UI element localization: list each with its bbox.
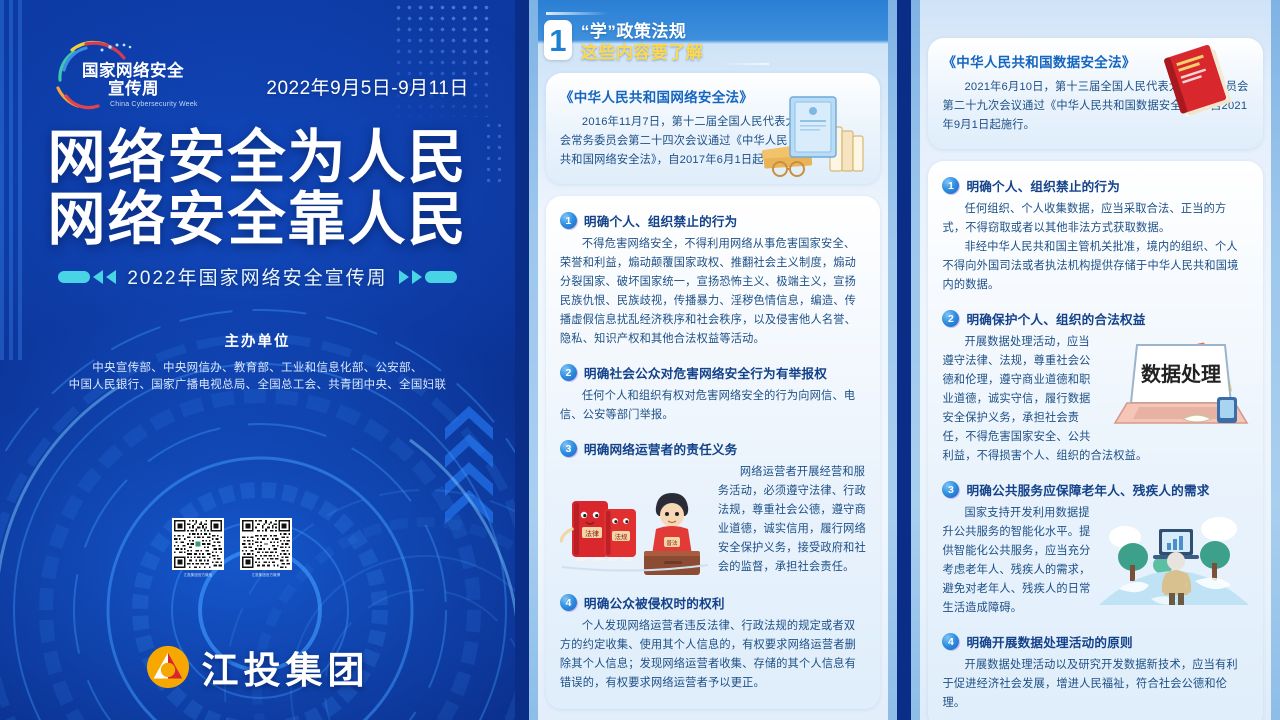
company-brand-name: 江投集团: [201, 640, 369, 694]
host-title: 主办单位: [0, 330, 515, 351]
qr-code-item[interactable]: 江投集团官方微博: [240, 518, 292, 577]
data-security-law-sheet: 《中华人民共和国数据安全法》 2021年6月10日，第十三届全国人民代表大会常务…: [911, 0, 1280, 720]
red-law-book-icon: [1157, 44, 1249, 124]
logo-line2: 宣传周: [108, 78, 159, 98]
left-arrow-decoration: [58, 270, 116, 284]
law-item: 4 明确开展数据处理活动的原则 开展数据处理活动以及研究开发数据新技术，应当有利…: [942, 632, 1249, 713]
qr-code-wechat[interactable]: [172, 518, 224, 570]
logo-english: China Cybersecurity Week: [110, 101, 198, 108]
headline-line-2: 网络安全靠人民: [0, 188, 515, 250]
jiangtou-group-logo-icon: [145, 644, 191, 690]
sheet-right-edge: [1271, 0, 1280, 720]
poster-headline: 网络安全为人民 网络安全靠人民: [0, 126, 515, 250]
section-title-line-2: 这些内容要了解: [581, 42, 704, 63]
law-item: 2 明确社会公众对危害网络安全行为有举报权 任何个人和组织有权对危害网络安全的行…: [560, 363, 867, 425]
poster-subtitle-text: 2022年国家网络安全宣传周: [127, 263, 387, 290]
item-title: 明确网络运营者的责任义务: [584, 439, 738, 458]
law-item: 4 明确公众被侵权时的权利 个人发现网络运营者违反法律、行政法规的规定或者双方的…: [560, 593, 867, 693]
item-title: 明确社会公众对危害网络安全行为有举报权: [584, 363, 827, 382]
item-title: 明确开展数据处理活动的原则: [966, 632, 1132, 651]
item-paragraph: 非经中华人民共和国主管机关批准，境内的组织、个人不得向外国司法或者执法机构提供存…: [942, 238, 1249, 295]
item-number-badge: 2: [942, 310, 959, 327]
books-and-glasses-icon: [760, 89, 872, 181]
cybersecurity-week-poster: 国家网络安全 宣传周 China Cybersecurity Week 2022…: [0, 0, 515, 720]
item-number-badge: 1: [942, 177, 959, 194]
item-paragraph: 任何组织、个人收集数据，应当采取合法、正当的方式，不得窃取或者以其他非法方式获取…: [942, 200, 1249, 238]
section-header: 1 “学”政策法规 这些内容要了解: [538, 0, 889, 71]
section-number-badge: 1: [544, 20, 572, 60]
svg-text:法规: 法规: [615, 532, 628, 541]
item-number-badge: 1: [560, 212, 577, 229]
law-item: 1 明确个人、组织禁止的行为 任何组织、个人收集数据，应当采取合法、正当的方式，…: [942, 176, 1249, 295]
sheet-right-edge: [888, 0, 897, 720]
law-books-mascot-icon: 法律 法规: [560, 467, 710, 579]
item-title: 明确公共服务应保障老年人、残疾人的需求: [966, 480, 1209, 499]
china-cybersecurity-week-logo: 国家网络安全 宣传周 China Cybersecurity Week: [52, 36, 202, 112]
item-title: 明确保护个人、组织的合法权益: [966, 309, 1145, 328]
section-title-line-1: “学”政策法规: [581, 21, 704, 42]
host-line-1: 中央宣传部、中央网信办、教育部、工业和信息化部、公安部、: [0, 360, 515, 377]
item-paragraph: 任何个人和组织有权对危害网络安全的行为向网信、电信、公安等部门举报。: [560, 387, 867, 425]
law-item: 2 明确保护个人、组织的合法权益: [942, 309, 1249, 466]
item-title: 明确个人、组织禁止的行为: [584, 211, 738, 230]
qr-caption-wechat: 江投集团官方微信: [172, 572, 224, 577]
law-items-card: 1 明确个人、组织禁止的行为 不得危害网络安全，不得利用网络从事危害国家安全、荣…: [546, 196, 881, 709]
poster-subtitle-banner: 2022年国家网络安全宣传周: [0, 263, 515, 290]
logo-line1: 国家网络安全: [82, 60, 184, 80]
cybersecurity-law-sheet: 1 “学”政策法规 这些内容要了解: [529, 0, 898, 720]
law-item: 3 明确网络运营者的责任义务 法律: [560, 439, 867, 579]
qr-code-item[interactable]: 江投集团官方微信: [172, 518, 224, 577]
host-line-2: 中国人民银行、国家广播电视总局、全国总工会、共青团中央、全国妇联: [0, 377, 515, 394]
laptop-data-processing-icon: 数据处理: [1109, 335, 1249, 447]
company-brand-lockup: 江投集团: [0, 640, 515, 694]
item-paragraph: 个人发现网络运营者违反法律、行政法规的规定或者双方的约定收集、使用其个人信息的，…: [560, 617, 867, 693]
qr-caption-weibo: 江投集团官方微博: [240, 572, 292, 577]
laptop-screen-label: 数据处理: [1141, 362, 1221, 386]
item-number-badge: 4: [560, 594, 577, 611]
poster-date-range: 2022年9月5日-9月11日: [266, 73, 469, 100]
law-item: 3 明确公共服务应保障老年人、残疾人的需求: [942, 480, 1249, 618]
panel-gap: [897, 0, 911, 720]
item-number-badge: 4: [942, 633, 959, 650]
headline-line-1: 网络安全为人民: [0, 126, 515, 188]
elderly-person-globe-icon: [1099, 506, 1249, 606]
qr-code-weibo[interactable]: [240, 518, 292, 570]
item-paragraph: 不得危害网络安全，不得利用网络从事危害国家安全、荣誉和利益，煽动颠覆国家政权、推…: [560, 235, 867, 349]
item-number-badge: 3: [560, 440, 577, 457]
law-items-card: 1 明确个人、组织禁止的行为 任何组织、个人收集数据，应当采取合法、正当的方式，…: [928, 161, 1263, 720]
law-intro-card: 《中华人民共和国网络安全法》 2016年11月7日，第十二届全国人民代表大会常务…: [546, 73, 881, 184]
sheet-left-edge: [529, 0, 538, 720]
law-item: 1 明确个人、组织禁止的行为 不得危害网络安全，不得利用网络从事危害国家安全、荣…: [560, 211, 867, 349]
poster-host-block: 主办单位 中央宣传部、中央网信办、教育部、工业和信息化部、公安部、 中国人民银行…: [0, 330, 515, 394]
item-number-badge: 2: [560, 364, 577, 381]
panel-gap: [515, 0, 529, 720]
svg-text:普法: 普法: [666, 539, 678, 547]
item-number-badge: 3: [942, 481, 959, 498]
law-intro-card: 《中华人民共和国数据安全法》 2021年6月10日，第十三届全国人民代表大会常务…: [928, 38, 1263, 149]
item-title: 明确个人、组织禁止的行为: [966, 176, 1120, 195]
item-title: 明确公众被侵权时的权利: [584, 593, 725, 612]
poster-collage: 国家网络安全 宣传周 China Cybersecurity Week 2022…: [0, 0, 1280, 720]
sheet-left-edge: [911, 0, 920, 720]
item-paragraph: 开展数据处理活动以及研究开发数据新技术，应当有利于促进经济社会发展，增进人民福祉…: [942, 656, 1249, 713]
right-arrow-decoration: [399, 270, 457, 284]
qr-code-group: 江投集团官方微信 江投集团: [172, 518, 292, 577]
svg-text:法律: 法律: [585, 529, 599, 538]
